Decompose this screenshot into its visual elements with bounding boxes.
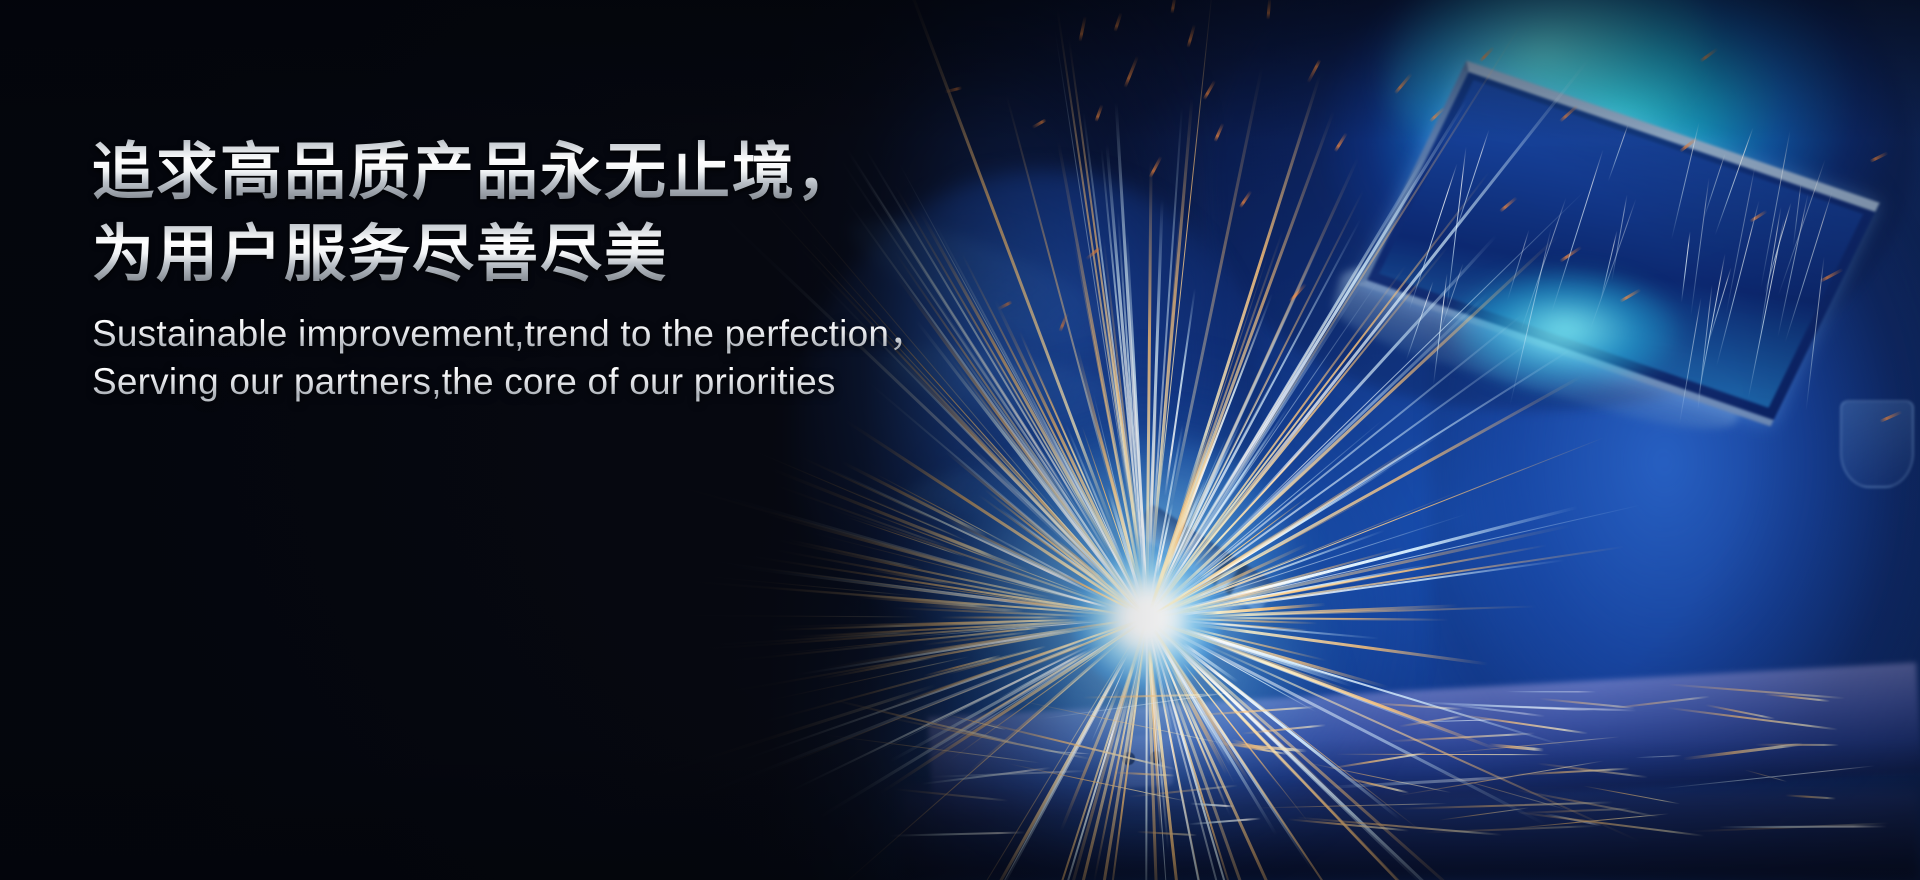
spark: [1507, 690, 1597, 692]
headline-line-1: 追求高品质产品永无止境，: [92, 132, 1072, 214]
spark: [940, 617, 1061, 619]
subline-line-1: Sustainable improvement,trend to the per…: [92, 310, 1072, 358]
hero-banner: 追求高品质产品永无止境， 为用户服务尽善尽美 Sustainable impro…: [0, 0, 1920, 880]
subline-line-2: Serving our partners,the core of our pri…: [92, 358, 1072, 406]
spark: [1719, 825, 1887, 828]
headline-line-2: 为用户服务尽善尽美: [92, 214, 1072, 296]
banner-copy-block: 追求高品质产品永无止境， 为用户服务尽善尽美 Sustainable impro…: [92, 132, 1072, 406]
jacket-badge-patch: [1840, 400, 1914, 488]
